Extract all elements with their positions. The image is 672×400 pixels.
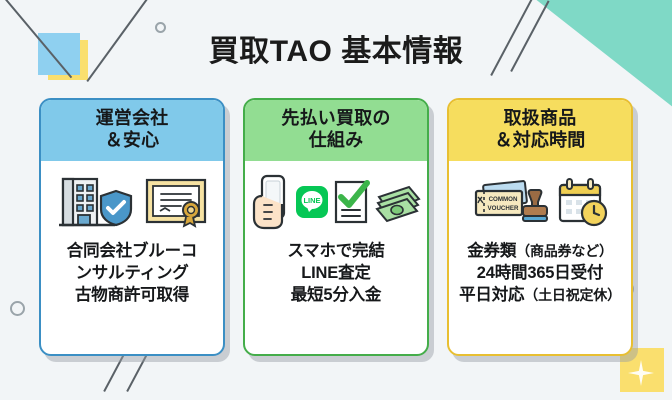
card-row: 運営会社 ＆安心 [0, 98, 672, 360]
card-company-body-line1: 合同会社ブルーコ [45, 241, 219, 263]
card-flow-icons: LINE [245, 161, 427, 239]
card-flow-header-line1: 先払い買取の [281, 108, 390, 128]
card-company-body-line2: ンサルティング [45, 263, 219, 285]
card-items-body-line1-main: 金券類 [467, 242, 516, 260]
calendar-icon [556, 177, 608, 227]
card-flow-body: スマホで完結 LINE査定 最短5分入金 [245, 239, 427, 354]
hand-smartphone-icon [252, 174, 292, 230]
card-items-icons: COMMON VOUCHER [449, 161, 631, 239]
card-company: 運営会社 ＆安心 [39, 98, 225, 356]
checklist-icon [332, 178, 372, 226]
card-company-header-line2: ＆安心 [105, 130, 160, 150]
card-company-icons [41, 161, 223, 239]
infographic-canvas: 買取TAO 基本情報 運営会社 ＆安心 [0, 0, 672, 400]
page-title: 買取TAO 基本情報 [0, 26, 672, 70]
card-flow-body-line3: 最短5分入金 [249, 285, 423, 307]
card-company-header: 運営会社 ＆安心 [41, 100, 223, 161]
card-items-body-line1-note: （商品券など） [516, 243, 613, 259]
card-flow-header: 先払い買取の 仕組み [245, 100, 427, 161]
shield-check-icon [99, 189, 133, 227]
card-flow-body-line2: LINE査定 [249, 263, 423, 285]
card-items-body-line3: 平日対応（土日祝定休） [453, 285, 627, 307]
card-flow: 先払い買取の 仕組み [243, 98, 429, 356]
svg-text:LINE: LINE [303, 196, 320, 205]
certificate-icon [145, 176, 207, 228]
line-app-icon: LINE [295, 185, 329, 219]
sparkle-icon [628, 360, 654, 386]
card-items-header: 取扱商品 ＆対応時間 [449, 100, 631, 161]
cash-banknotes-icon [375, 181, 421, 223]
svg-text:VOUCHER: VOUCHER [488, 205, 519, 212]
card-flow-body-line1: スマホで完結 [249, 241, 423, 263]
card-items-body-line3-note: （土日祝定休） [524, 287, 621, 303]
card-company-body: 合同会社ブルーコ ンサルティング 古物商許可取得 [41, 239, 223, 354]
card-company-body-line3: 古物商許可取得 [45, 285, 219, 307]
card-company-header-line1: 運営会社 [96, 108, 169, 128]
card-items-body-line1: 金券類（商品券など） [453, 241, 627, 263]
card-items-header-line2: ＆対応時間 [495, 130, 586, 150]
card-items-body-line2: 24時間365日受付 [453, 263, 627, 285]
card-flow-header-line2: 仕組み [309, 130, 364, 150]
rubber-stamp-icon [520, 188, 550, 226]
card-items-body: 金券類（商品券など） 24時間365日受付 平日対応（土日祝定休） [449, 239, 631, 354]
svg-text:COMMON: COMMON [489, 196, 518, 203]
card-items: 取扱商品 ＆対応時間 COMMON VOUCHER [447, 98, 633, 356]
card-items-header-line1: 取扱商品 [504, 108, 577, 128]
card-items-body-line3-main: 平日対応 [459, 286, 524, 304]
